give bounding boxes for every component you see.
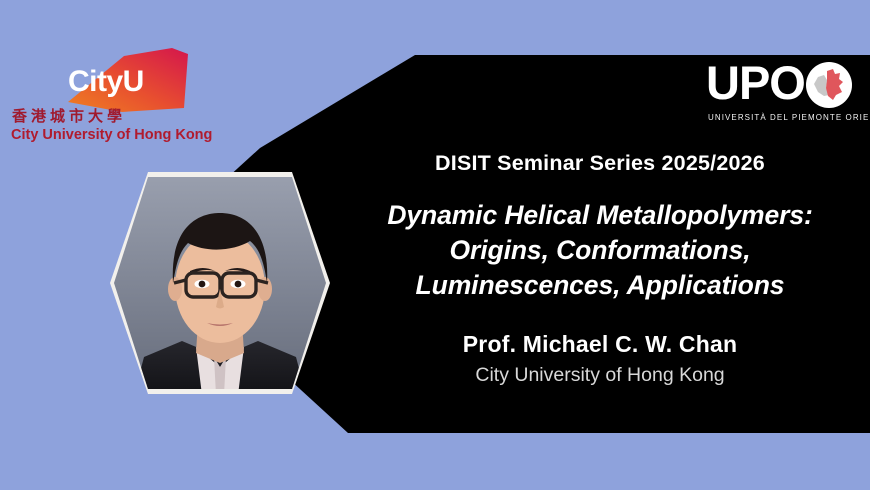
speaker-portrait [110,171,330,395]
cityu-wordmark: CityU [68,66,186,98]
speaker-affiliation: City University of Hong Kong [340,362,860,388]
upo-subtitle: UNIVERSITÀ DEL PIEMONTE ORIENTALE [708,112,870,122]
talk-title-line-1: Dynamic Helical Metallopolymers: [340,198,860,233]
upo-logo-row: UPO [706,58,862,110]
cityu-english-name: City University of Hong Kong [11,127,212,144]
upo-wordmark: UPO [706,58,805,108]
speaker-name: Prof. Michael C. W. Chan [340,329,860,359]
talk-title-line-3: Luminescences, Applications [340,268,860,303]
series-label: DISIT Seminar Series 2025/2026 [340,150,860,176]
seminar-poster: CityU 香港城市大學 City University of Hong Kon… [0,0,870,490]
cityu-logo: CityU 香港城市大學 City University of Hong Kon… [4,48,194,148]
upo-region-map-icon [806,62,852,108]
cityu-chinese-name: 香港城市大學 [12,108,126,126]
talk-title-line-2: Origins, Conformations, [340,233,860,268]
talk-title: Dynamic Helical Metallopolymers: Origins… [340,198,860,303]
upo-logo: UPO UNIVERSITÀ DEL PIEMONTE ORIENTALE [706,58,862,136]
seminar-text-block: DISIT Seminar Series 2025/2026 Dynamic H… [340,150,860,388]
